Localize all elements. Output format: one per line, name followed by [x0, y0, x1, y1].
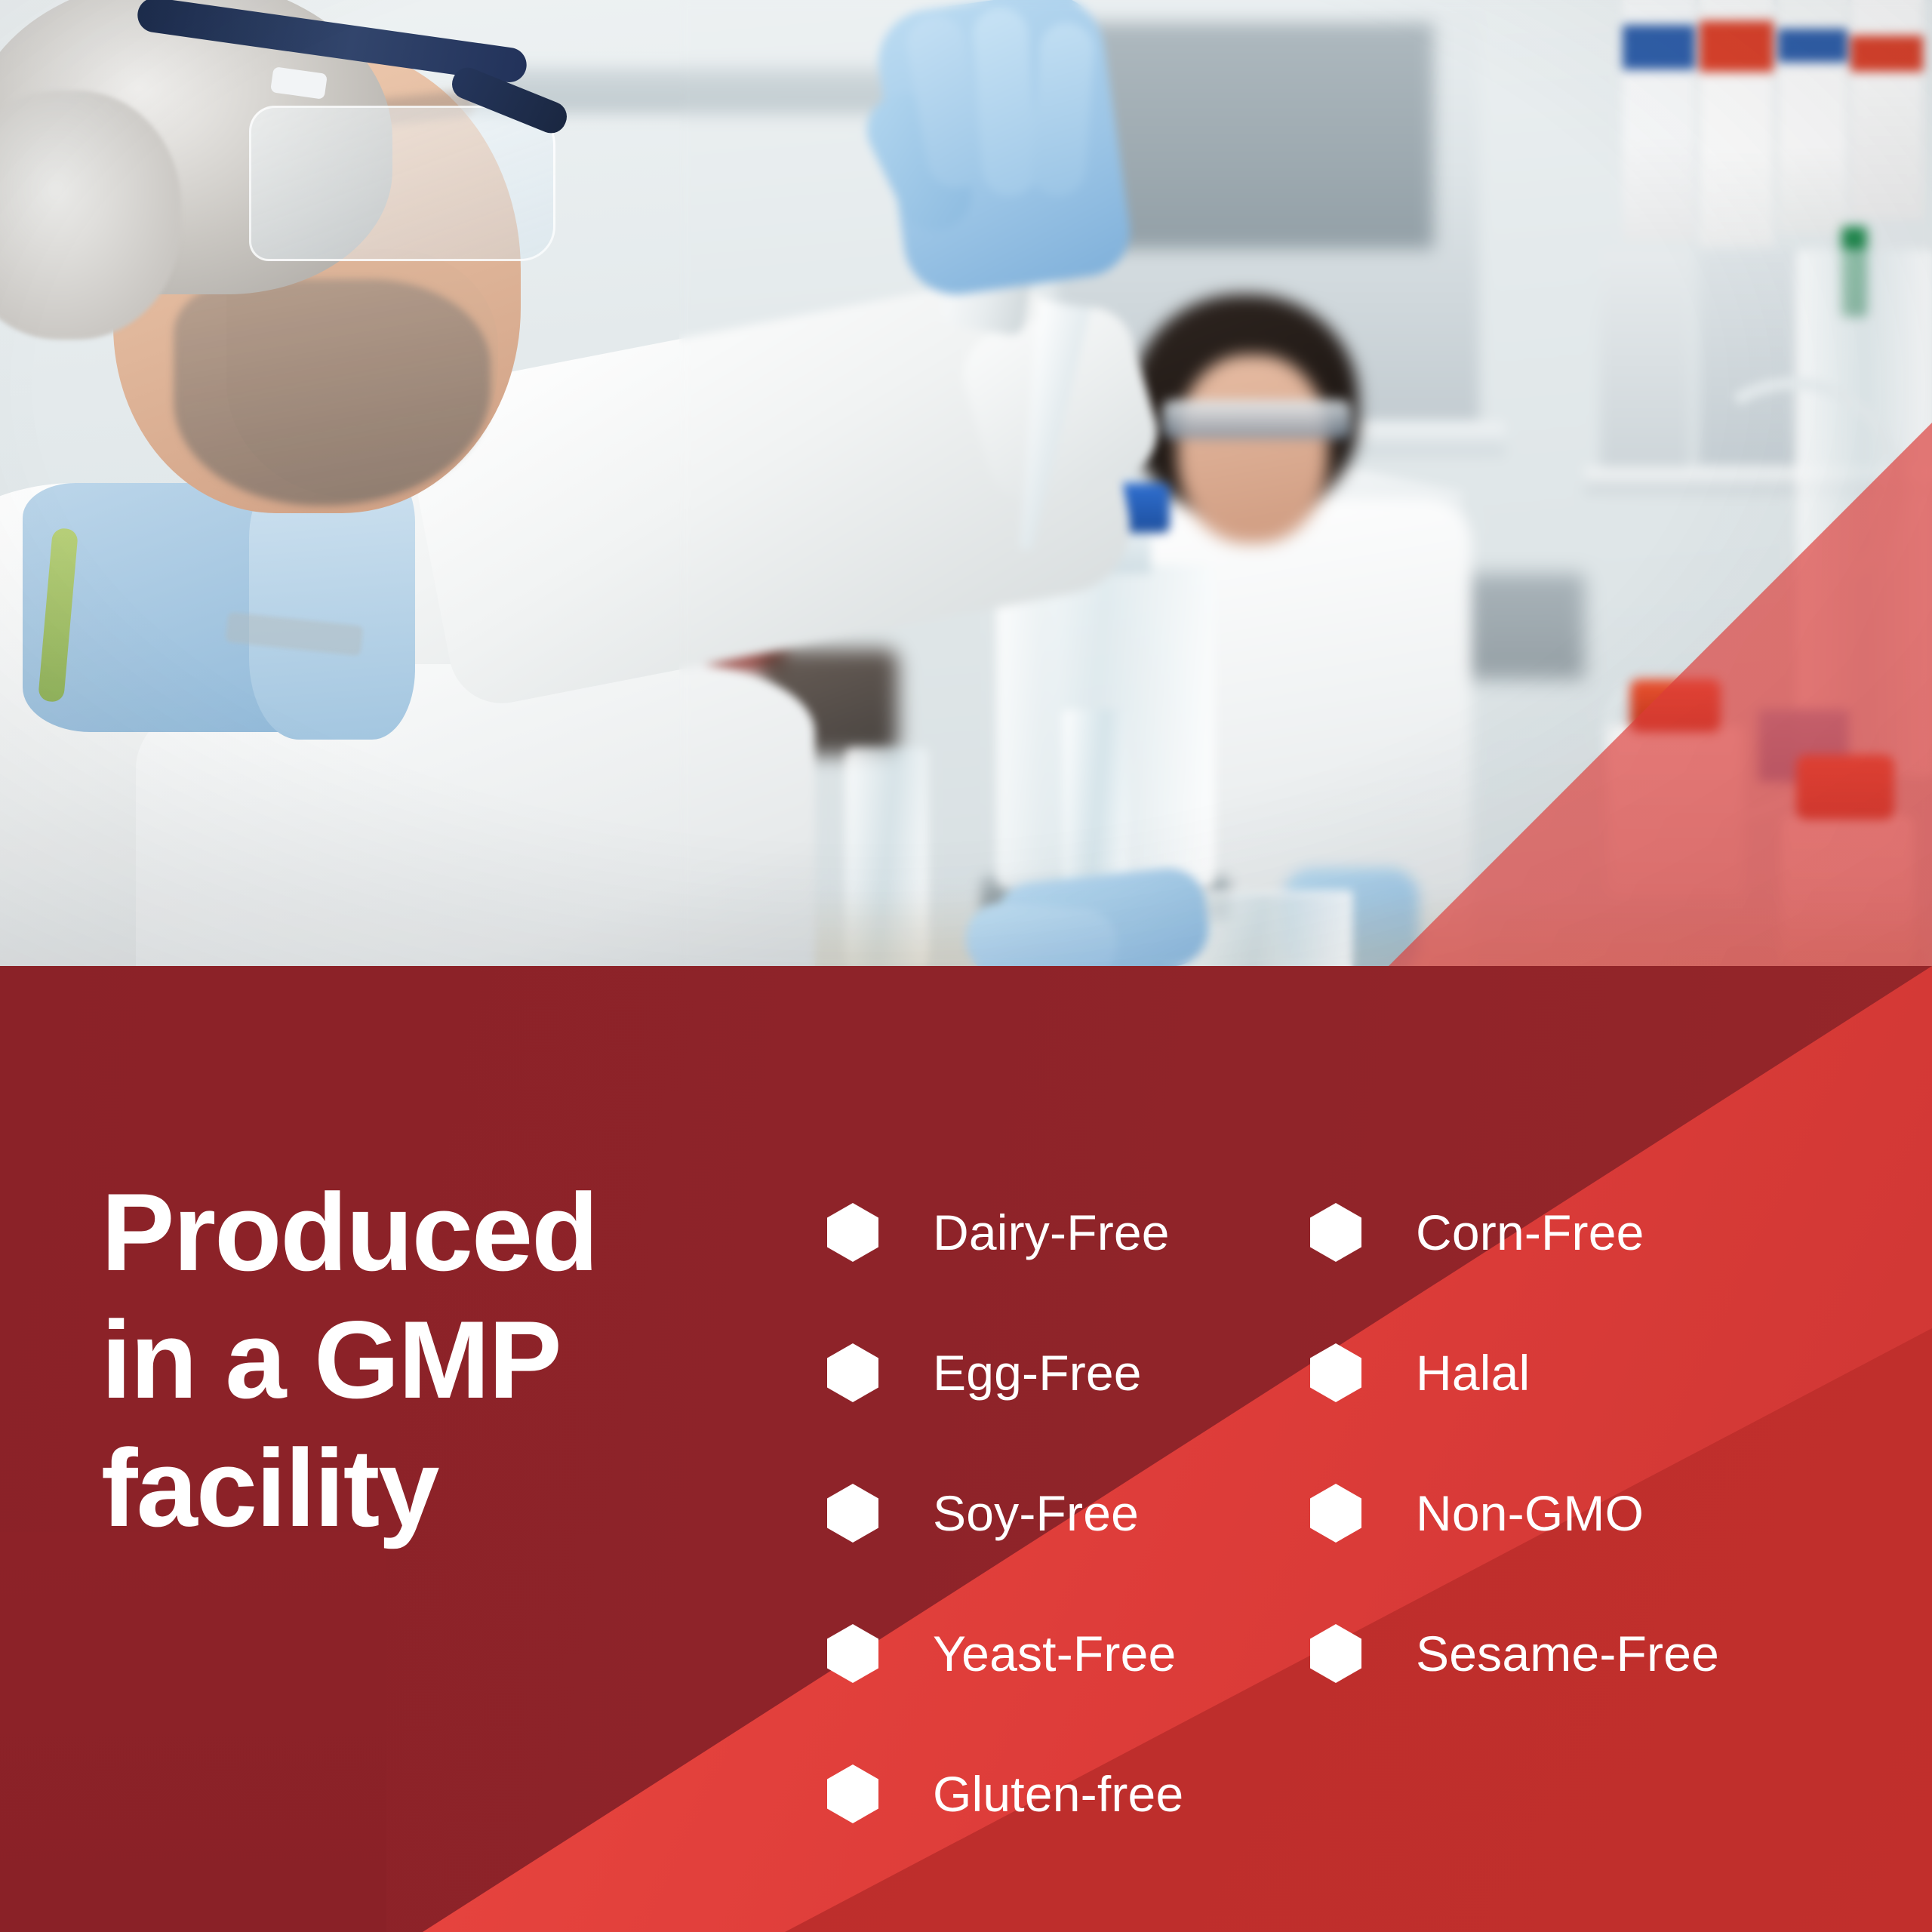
list-item: Egg-Free — [827, 1303, 1310, 1443]
list-item: Yeast-Free — [827, 1583, 1310, 1724]
list-item: Halal — [1310, 1303, 1838, 1443]
hexagon-bullet-icon — [1310, 1343, 1361, 1402]
list-item-label: Egg-Free — [933, 1344, 1142, 1401]
list-item: Gluten-free — [827, 1724, 1310, 1864]
list-item-label: Sesame-Free — [1416, 1625, 1719, 1682]
hexagon-bullet-icon — [827, 1343, 878, 1402]
panel-dark-left-column — [0, 1532, 386, 1932]
checklist-column-left: Dairy-Free Egg-Free Soy-Free Yeast-Free … — [827, 1162, 1310, 1864]
list-item-label: Soy-Free — [933, 1484, 1139, 1542]
list-item: Soy-Free — [827, 1443, 1310, 1583]
list-item-label: Yeast-Free — [933, 1625, 1176, 1682]
list-item-label: Dairy-Free — [933, 1204, 1170, 1261]
hexagon-bullet-icon — [827, 1203, 878, 1262]
page-title: Produced in a GMP facility — [101, 1168, 750, 1552]
list-item-label: Gluten-free — [933, 1765, 1183, 1823]
promo-graphic: Produced in a GMP facility Dairy-Free Eg… — [0, 0, 1932, 1932]
list-item-label: Halal — [1416, 1344, 1530, 1401]
list-item: Non-GMO — [1310, 1443, 1838, 1583]
hexagon-bullet-icon — [1310, 1203, 1361, 1262]
list-item: Dairy-Free — [827, 1162, 1310, 1303]
list-item-label: Corn-Free — [1416, 1204, 1644, 1261]
hexagon-bullet-icon — [827, 1764, 878, 1823]
list-item: Corn-Free — [1310, 1162, 1838, 1303]
hexagon-bullet-icon — [827, 1484, 878, 1543]
hexagon-bullet-icon — [1310, 1624, 1361, 1683]
list-item: Sesame-Free — [1310, 1583, 1838, 1724]
certification-checklist: Dairy-Free Egg-Free Soy-Free Yeast-Free … — [827, 1162, 1869, 1864]
hexagon-bullet-icon — [827, 1624, 878, 1683]
list-item-label: Non-GMO — [1416, 1484, 1644, 1542]
hexagon-bullet-icon — [1310, 1484, 1361, 1543]
checklist-column-right: Corn-Free Halal Non-GMO Sesame-Free — [1310, 1162, 1838, 1864]
